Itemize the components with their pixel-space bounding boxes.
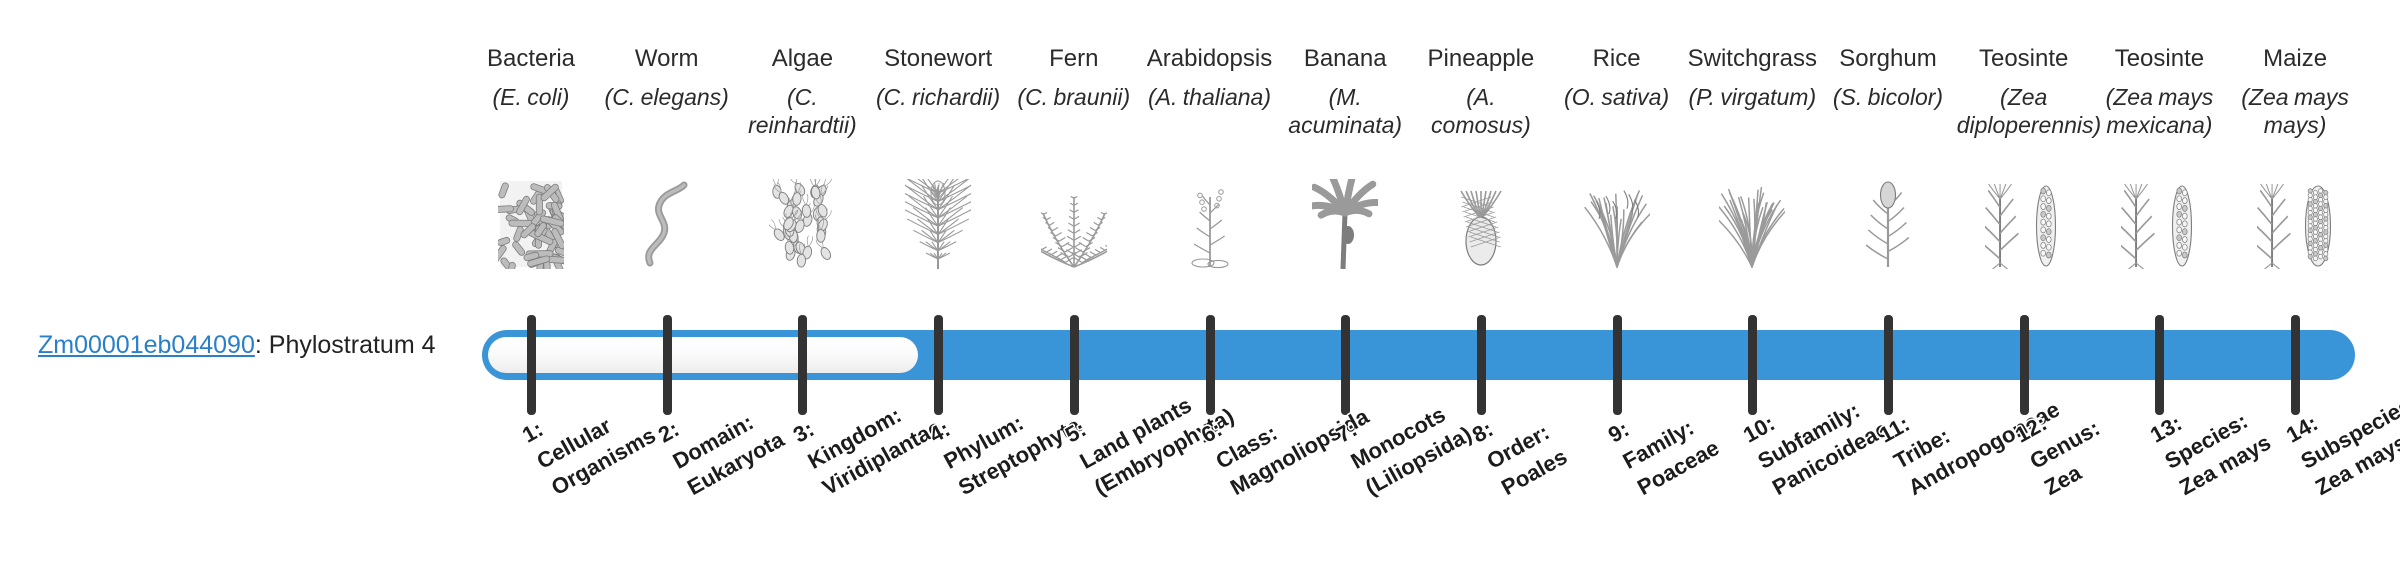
species-common-name: Algae	[734, 44, 870, 74]
phylostratum-bar-unfilled	[488, 337, 918, 373]
phylostratum-tick-14[interactable]	[2291, 315, 2300, 415]
phylostratum-tick-5[interactable]	[1070, 315, 1079, 415]
phylostratum-tick-4[interactable]	[934, 315, 943, 415]
gene-label-separator: :	[255, 331, 269, 359]
teosinte-plant-and-ear-icon	[2091, 169, 2227, 269]
species-scientific-name: (C. reinhardtii)	[734, 83, 870, 139]
phylostratum-tick-2[interactable]	[663, 315, 672, 415]
species-scientific-name: (A. thaliana)	[1142, 83, 1278, 111]
species-scientific-name: (E. coli)	[463, 83, 599, 111]
species-column-6: Arabidopsis(A. thaliana)	[1142, 44, 1278, 111]
bacteria-rods-icon	[463, 169, 599, 269]
arabidopsis-icon	[1142, 169, 1278, 269]
phylostratum-tick-9[interactable]	[1613, 315, 1622, 415]
species-common-name: Teosinte	[1956, 44, 2092, 74]
species-scientific-name: (C. elegans)	[599, 83, 735, 111]
phylostratum-rank-label-10: 10:Subfamily:Panicoideae	[1738, 362, 1894, 503]
species-common-name: Stonewort	[870, 44, 1006, 74]
species-column-7: Banana(M. acuminata)	[1277, 44, 1413, 139]
species-column-13: Teosinte(Zea mays mexicana)	[2091, 44, 2227, 139]
species-scientific-name: (C. braunii)	[1006, 83, 1142, 111]
species-common-name: Arabidopsis	[1142, 44, 1278, 74]
species-scientific-name: (C. richardii)	[870, 83, 1006, 111]
species-scientific-name: (Zea mays mays)	[2227, 83, 2363, 139]
phylostratum-tick-3[interactable]	[798, 315, 807, 415]
species-scientific-name: (A. comosus)	[1413, 83, 1549, 139]
phylostratum-tick-11[interactable]	[1884, 315, 1893, 415]
species-column-5: Fern(C. braunii)	[1006, 44, 1142, 111]
species-column-2: Worm(C. elegans)	[599, 44, 735, 111]
species-column-10: Switchgrass(P. virgatum)	[1684, 44, 1820, 111]
species-scientific-name: (Zea diploperennis)	[1956, 83, 2092, 139]
species-common-name: Switchgrass	[1684, 44, 1820, 74]
species-common-name: Banana	[1277, 44, 1413, 74]
gene-phylostratum-label: Zm00001eb044090: Phylostratum 4	[38, 330, 436, 360]
species-common-name: Teosinte	[2091, 44, 2227, 74]
species-scientific-name: (S. bicolor)	[1820, 83, 1956, 111]
sorghum-icon	[1820, 169, 1956, 269]
species-column-4: Stonewort(C. richardii)	[870, 44, 1006, 111]
species-column-14: Maize(Zea mays mays)	[2227, 44, 2363, 139]
fern-icon	[1006, 169, 1142, 269]
species-column-12: Teosinte(Zea diploperennis)	[1956, 44, 2092, 139]
phylostratum-rank-label-7: 7:Monocots(Liliopsida)	[1331, 367, 1477, 503]
stonewort-icon	[870, 169, 1006, 269]
species-scientific-name: (M. acuminata)	[1277, 83, 1413, 139]
phylostratum-tick-8[interactable]	[1477, 315, 1486, 415]
phylostratum-value-text: Phylostratum 4	[269, 331, 436, 359]
phylostratigraphy-figure: Zm00001eb044090: Phylostratum 4 Bacteria…	[0, 0, 2400, 580]
species-common-name: Bacteria	[463, 44, 599, 74]
teosinte-plant-and-ear-icon	[1956, 169, 2092, 269]
maize-plant-and-ear-icon	[2227, 169, 2363, 269]
nematode-worm-icon	[599, 169, 735, 269]
phylostratum-rank-label-13: 13:Species:Zea mays	[2145, 375, 2276, 502]
species-common-name: Maize	[2227, 44, 2363, 74]
algae-cells-icon	[734, 169, 870, 269]
switchgrass-icon	[1684, 169, 1820, 269]
phylostratum-tick-13[interactable]	[2155, 315, 2164, 415]
banana-plant-icon	[1277, 169, 1413, 269]
pineapple-icon	[1413, 169, 1549, 269]
species-column-9: Rice(O. sativa)	[1549, 44, 1685, 111]
species-common-name: Sorghum	[1820, 44, 1956, 74]
species-common-name: Worm	[599, 44, 735, 74]
rice-plant-icon	[1549, 169, 1685, 269]
phylostratum-rank-label-2: 2:Domain:Eukaryota	[653, 372, 790, 502]
phylostratum-tick-1[interactable]	[527, 315, 536, 415]
phylostratum-rank-label-1: 1:CellularOrganisms	[517, 368, 661, 502]
phylostratum-tick-10[interactable]	[1748, 315, 1757, 415]
species-column-8: Pineapple(A. comosus)	[1413, 44, 1549, 139]
species-scientific-name: (O. sativa)	[1549, 83, 1685, 111]
species-scientific-name: (P. virgatum)	[1684, 83, 1820, 111]
species-column-3: Algae(C. reinhardtii)	[734, 44, 870, 139]
gene-id-link[interactable]: Zm00001eb044090	[38, 331, 255, 359]
species-scientific-name: (Zea mays mexicana)	[2091, 83, 2227, 139]
phylostratum-rank-label-3: 3:Kingdom:Viridiplantae	[788, 360, 947, 503]
species-common-name: Rice	[1549, 44, 1685, 74]
species-column-11: Sorghum(S. bicolor)	[1820, 44, 1956, 111]
species-column-1: Bacteria(E. coli)	[463, 44, 599, 111]
species-common-name: Pineapple	[1413, 44, 1549, 74]
species-common-name: Fern	[1006, 44, 1142, 74]
